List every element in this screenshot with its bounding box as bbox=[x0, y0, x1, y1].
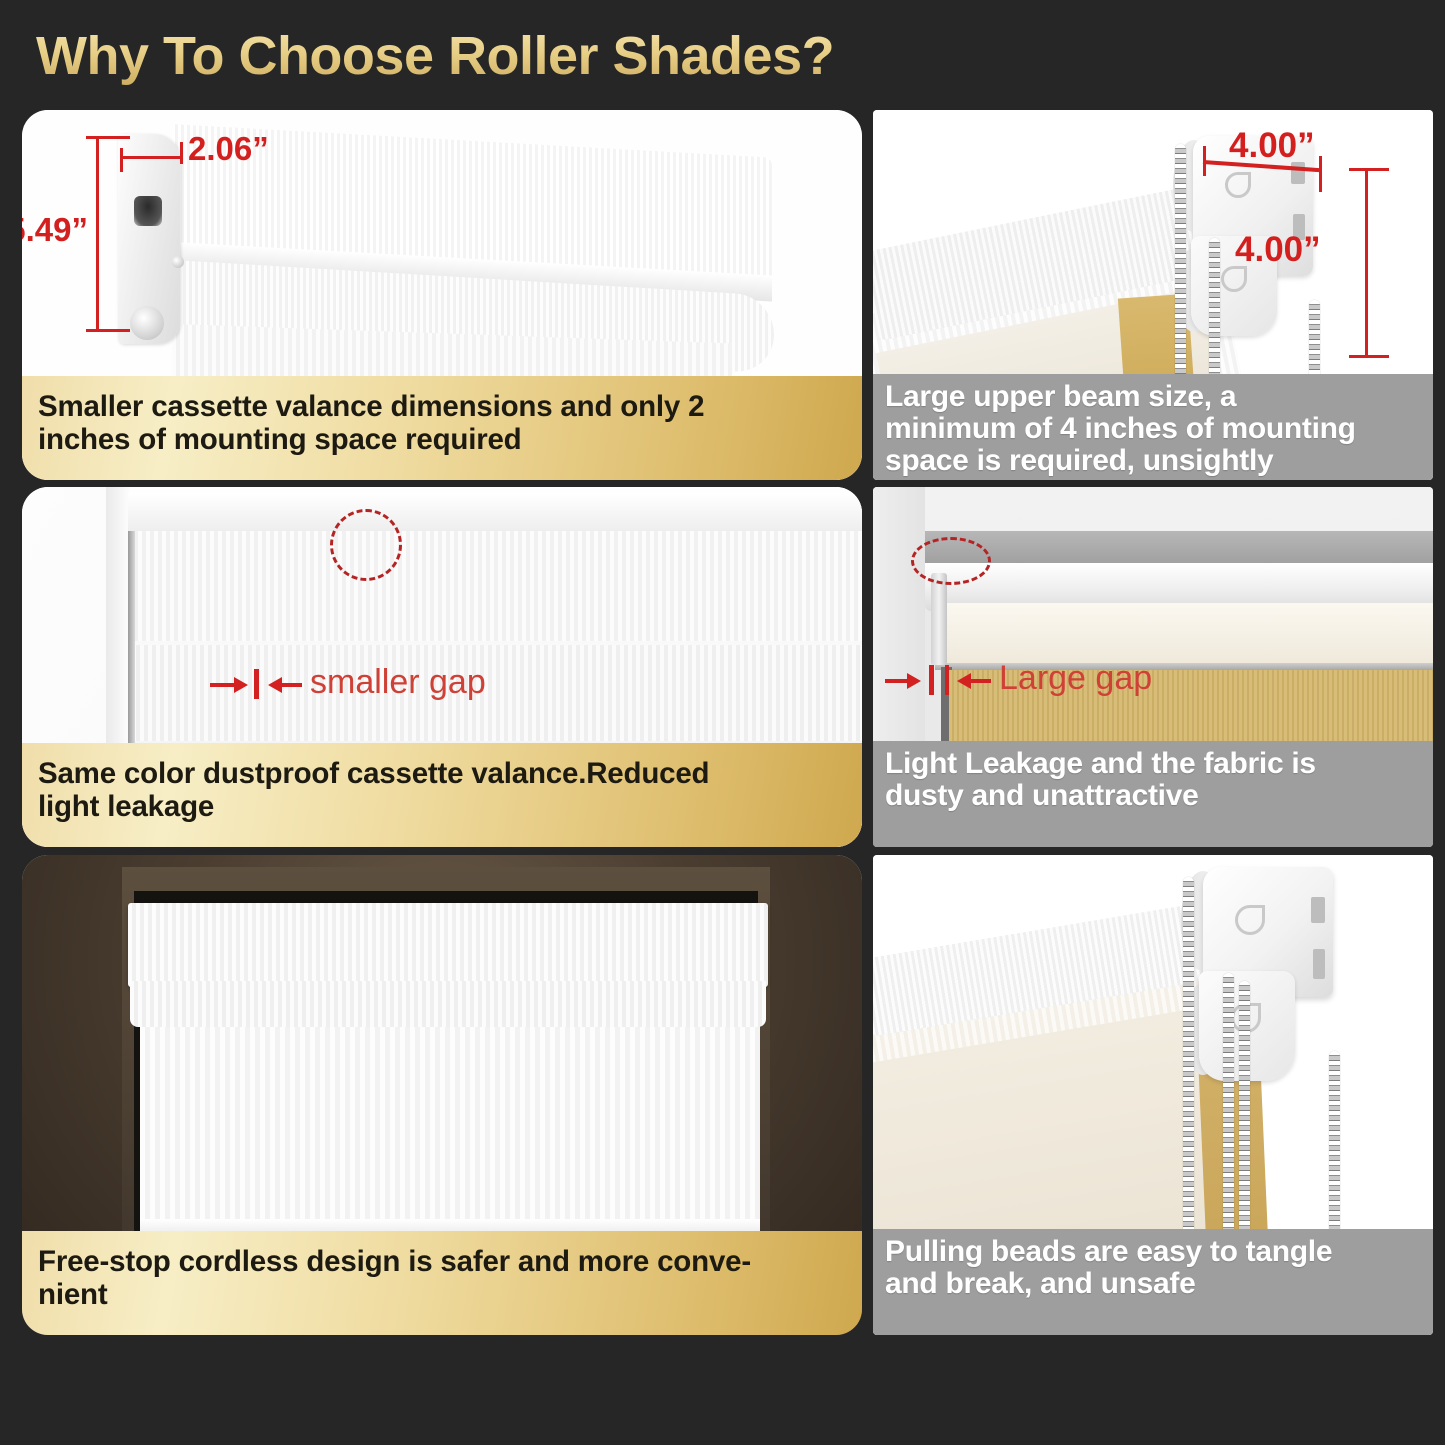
caption-line-1: Same color dustproof cassette valance.Re… bbox=[38, 757, 709, 790]
infographic-page: Why To Choose Roller Shades? 5.49” 2.06” bbox=[0, 0, 1445, 1445]
large-gap-label: Large gap bbox=[999, 659, 1152, 698]
height-dim-tick-top bbox=[86, 136, 130, 139]
panel-large-upper-beam: 4.00” 4.00” Large upper beam size, a min… bbox=[873, 110, 1433, 480]
width-dim-tick-right bbox=[180, 142, 183, 164]
caption-line-1: Smaller cassette valance dimensions and … bbox=[38, 390, 704, 423]
page-title: Why To Choose Roller Shades? bbox=[36, 20, 1036, 92]
bead-chain bbox=[1175, 144, 1186, 394]
caption-dustproof-cassette: Same color dustproof cassette valance.Re… bbox=[22, 743, 862, 847]
caption-cassette-valance: Smaller cassette valance dimensions and … bbox=[22, 376, 862, 480]
bead-chain bbox=[1209, 238, 1220, 394]
smaller-gap-label: smaller gap bbox=[310, 663, 486, 702]
height-dimension-label: 5.49” bbox=[22, 211, 88, 249]
height-dim-tick-bottom bbox=[86, 329, 130, 332]
caption-line-2: dusty and unattractive bbox=[885, 780, 1316, 812]
beam-height-label: 4.00” bbox=[1235, 230, 1321, 270]
width-dim-line bbox=[120, 156, 182, 159]
height-dim-line bbox=[96, 136, 99, 332]
caption-line-1: Large upper beam size, a bbox=[885, 381, 1356, 413]
panel-light-leakage: Large gap Light Leakage and the fabric i… bbox=[873, 487, 1433, 847]
caption-line-2: minimum of 4 inches of mounting bbox=[885, 413, 1356, 445]
caption-line-1: Pulling beads are easy to tangle bbox=[885, 1236, 1332, 1268]
panel-pulling-beads: Pulling beads are easy to tangle and bre… bbox=[873, 855, 1433, 1335]
width-dimension-label: 2.06” bbox=[188, 130, 269, 168]
caption-line-3: space is required, unsightly bbox=[885, 445, 1356, 477]
caption-line-2: inches of mounting space required bbox=[38, 423, 704, 456]
caption-line-2: light leakage bbox=[38, 790, 709, 823]
caption-light-leakage: Light Leakage and the fabric is dusty an… bbox=[873, 741, 1433, 847]
caption-line-1: Light Leakage and the fabric is bbox=[885, 748, 1316, 780]
caption-line-2: and break, and unsafe bbox=[885, 1268, 1332, 1300]
beam-width-label: 4.00” bbox=[1229, 126, 1315, 166]
highlight-circle-icon bbox=[911, 537, 991, 585]
width-dim-tick-left bbox=[120, 148, 123, 172]
panel-cassette-valance: 5.49” 2.06” Smaller cassette valance dim… bbox=[22, 110, 862, 480]
caption-large-upper-beam: Large upper beam size, a minimum of 4 in… bbox=[873, 374, 1433, 480]
caption-line-2: nient bbox=[38, 1278, 751, 1311]
caption-cordless-design: Free-stop cordless design is safer and m… bbox=[22, 1231, 862, 1335]
panel-dustproof-cassette: smaller gap Same color dustproof cassett… bbox=[22, 487, 862, 847]
panel-cordless-design: Free-stop cordless design is safer and m… bbox=[22, 855, 862, 1335]
highlight-circle-icon bbox=[330, 509, 402, 581]
caption-pulling-beads: Pulling beads are easy to tangle and bre… bbox=[873, 1229, 1433, 1335]
caption-line-1: Free-stop cordless design is safer and m… bbox=[38, 1245, 751, 1278]
